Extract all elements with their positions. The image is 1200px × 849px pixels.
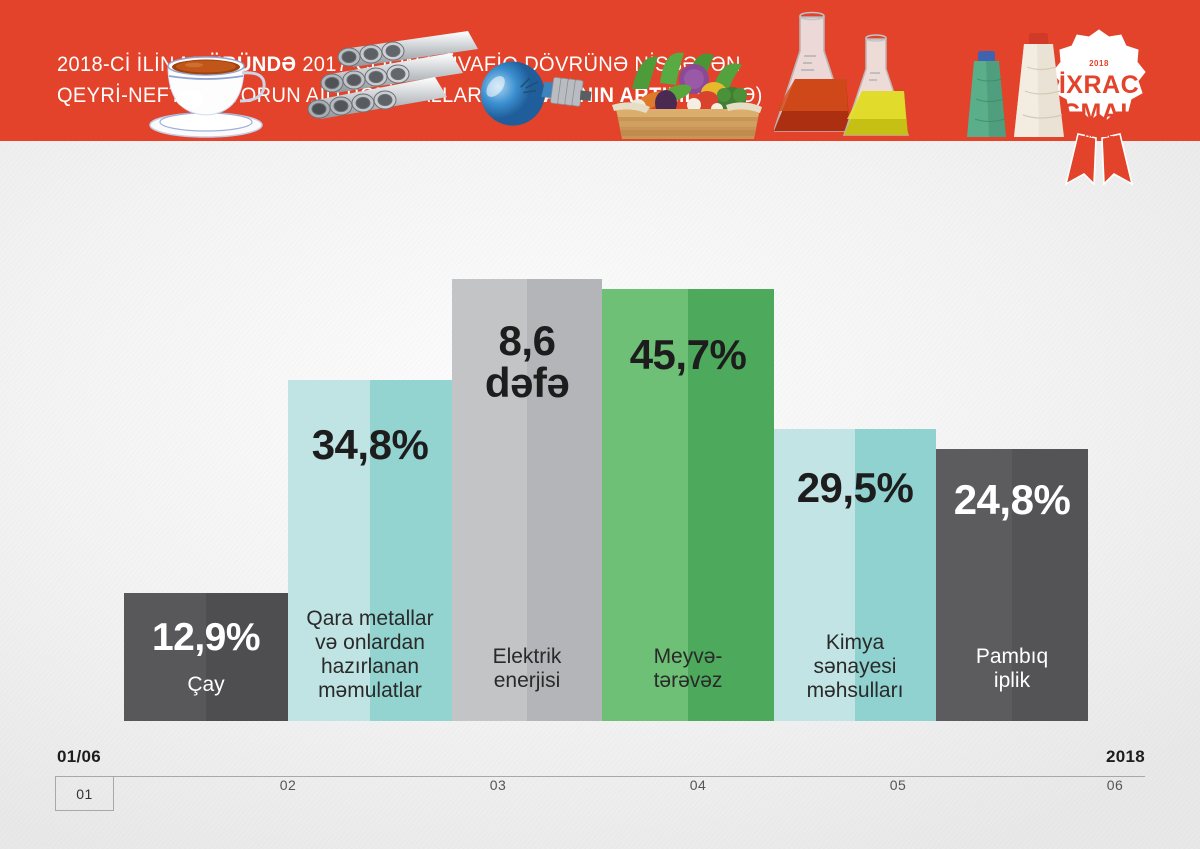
teacup-icon <box>124 21 288 141</box>
tick-03[interactable]: 03 <box>468 777 528 793</box>
bar-group-cay: 12,9% Çay <box>124 141 288 721</box>
thread-spools-icon <box>936 19 1088 141</box>
tick-06[interactable]: 06 <box>1085 777 1145 793</box>
bar-group-pambiq: 24,8% Pambıq iplik <box>936 141 1088 721</box>
page-indicator: 01/06 <box>57 747 101 767</box>
bar-label-kimya: Kimya sənayesi məhsulları <box>774 631 936 703</box>
bar-chart: 12,9% Çay <box>0 141 1200 721</box>
bar-label-elektrik: Elektrik enerjisi <box>452 645 602 693</box>
light-bulb-icon <box>452 41 602 141</box>
bar-value-qara-metallar: 34,8% <box>288 424 452 466</box>
infographic-page: 2018-Cİ İLİN I RÜBÜNDƏ 2017-Cİ İLİN MÜVA… <box>0 0 1200 849</box>
bar-value-kimya: 29,5% <box>774 467 936 509</box>
tick-01[interactable]: 01 <box>55 777 114 811</box>
bar-value-elektrik: 8,6 dəfə <box>452 320 602 404</box>
bar-group-kimya: 29,5% Kimya sənayesi məhsulları <box>774 141 936 721</box>
year-indicator: 2018 <box>1106 747 1145 767</box>
bar-label-meyve-tereves: Meyvə- tərəvəz <box>602 645 774 693</box>
bar-group-elektrik: 8,6 dəfə Elektrik enerjisi <box>452 141 602 721</box>
tick-04[interactable]: 04 <box>668 777 728 793</box>
chemistry-flasks-icon <box>774 1 936 141</box>
bar-label-qara-metallar: Qara metallar və onlardan hazırlanan məm… <box>288 607 452 703</box>
tick-02[interactable]: 02 <box>258 777 318 793</box>
bar-label-pambiq: Pambıq iplik <box>936 645 1088 693</box>
vegetable-crate-icon <box>602 31 774 141</box>
footer-pagination: 01/06 2018 01 02 03 04 05 06 <box>0 721 1200 849</box>
bar-label-cay: Çay <box>124 673 288 697</box>
tick-05[interactable]: 05 <box>868 777 928 793</box>
bar-value-pambiq: 24,8% <box>936 479 1088 521</box>
bar-value-meyve-tereves: 45,7% <box>602 334 774 376</box>
bar-group-meyve-tereves: 45,7% Meyvə- tərəvəz <box>602 141 774 721</box>
bar-group-qara-metallar: 34,8% Qara metallar və onlardan hazırlan… <box>288 141 452 721</box>
bar-value-cay: 12,9% <box>124 618 288 657</box>
axis-line <box>55 776 1145 777</box>
